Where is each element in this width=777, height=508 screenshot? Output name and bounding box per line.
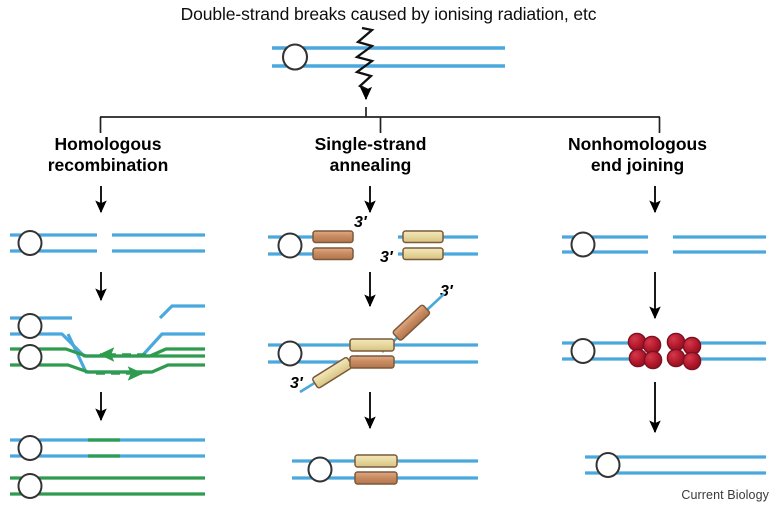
top-broken-duplex xyxy=(272,28,505,99)
centromere-circle-blue xyxy=(19,314,42,338)
nhej-stage-2 xyxy=(562,333,766,369)
ssa-stage-1 xyxy=(268,231,478,260)
annealed-repeat-box-light xyxy=(350,339,394,351)
flap-box-dark-upper xyxy=(392,304,430,341)
repeat-box-dark-left-top xyxy=(313,231,353,243)
centromere-circle-product-green xyxy=(19,474,42,498)
repeat-box-dark-left-bottom xyxy=(313,248,353,260)
diagram-canvas xyxy=(0,0,777,508)
hr-stage-3 xyxy=(10,436,205,498)
hr-stage-1 xyxy=(10,231,205,255)
centromere-circle xyxy=(572,339,595,363)
column-homologous-recombination xyxy=(10,186,205,498)
hr-stage-2 xyxy=(10,306,205,374)
dna-strand-blue-right-lower xyxy=(142,334,205,356)
ssa-stage-2 xyxy=(268,294,478,392)
lightning-bolt-icon xyxy=(357,28,372,90)
product-repeat-box-dark xyxy=(355,472,397,484)
centromere-circle-product-blue xyxy=(19,436,42,460)
centromere-circle xyxy=(279,234,302,258)
pathway-bracket xyxy=(100,107,660,133)
centromere-circle xyxy=(19,231,42,255)
centromere-circle xyxy=(309,458,332,482)
centromere-circle xyxy=(572,233,595,257)
centromere-circle xyxy=(597,453,620,477)
end-binding-protein-complex-left xyxy=(628,333,661,368)
dna-strand-blue-right-upper xyxy=(160,306,205,318)
dna-strand-green-lower xyxy=(10,365,205,372)
column-nonhomologous-end-joining xyxy=(562,186,766,477)
centromere-circle xyxy=(279,342,302,366)
ssa-stage-3 xyxy=(292,455,478,484)
centromere-circle xyxy=(283,45,307,70)
repeat-box-light-right-top xyxy=(403,231,443,243)
nhej-stage-3 xyxy=(585,453,766,477)
annealed-repeat-box-dark xyxy=(350,356,394,368)
repeat-box-light-right-bottom xyxy=(403,248,443,260)
dsb-repair-pathways-figure: Double-strand breaks caused by ionising … xyxy=(0,0,777,508)
product-repeat-box-light xyxy=(355,455,397,467)
centromere-circle-green xyxy=(19,345,42,369)
end-binding-protein-complex-right xyxy=(667,333,700,369)
nhej-stage-1 xyxy=(562,233,766,257)
column-single-strand-annealing xyxy=(268,186,478,484)
